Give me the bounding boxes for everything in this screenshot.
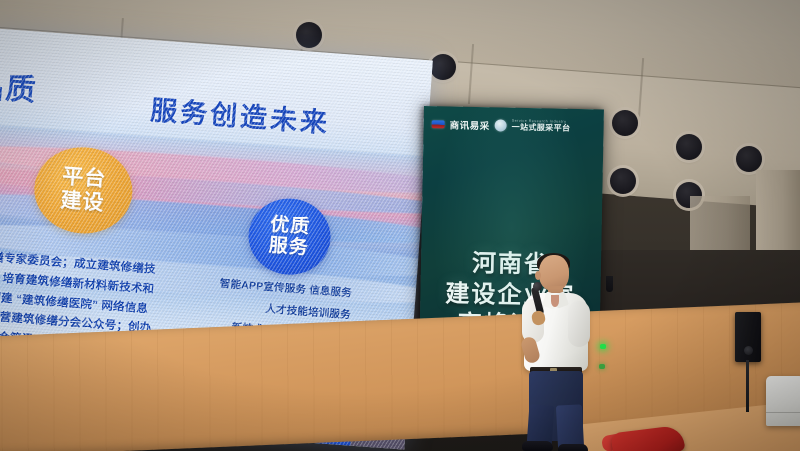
speaker-person <box>510 255 615 451</box>
speaker-shoe-right <box>558 444 588 451</box>
speaker-ear <box>535 271 541 280</box>
banner-logo-secondary-cn: 一站式服采平台 <box>512 123 571 132</box>
banner-logo-secondary-en: Service Research Industry <box>512 120 571 125</box>
banner-logo-primary: 商讯易采 <box>450 117 490 132</box>
air-vent-icon <box>612 110 638 136</box>
air-vent-icon <box>676 134 702 160</box>
screenshot-root: 品质 服务创造未来 平台 建设 优质 服务 建筑修缮专家委员会；成立建筑修缮技 … <box>0 0 800 451</box>
banner-logo-secondary: Service Research Industry 一站式服采平台 <box>512 120 571 133</box>
slide-kicker-text: 品质 <box>0 61 39 110</box>
green-indicator-light <box>599 364 605 369</box>
air-vent-icon <box>430 54 456 80</box>
white-covered-chair <box>766 376 800 426</box>
speaker-leg-right <box>556 404 584 449</box>
green-indicator-light <box>600 344 606 349</box>
globe-icon <box>495 119 507 131</box>
pa-speaker-stand <box>746 360 749 412</box>
badge-line-2: 建设 <box>60 189 106 216</box>
shirt-collar-opening <box>551 295 559 307</box>
speaker-shoe-left <box>522 441 553 451</box>
chair-seam <box>766 412 800 413</box>
air-vent-icon <box>610 168 636 194</box>
badge-line-1: 平台 <box>61 165 107 192</box>
banner-logo-row: 商讯易采 Service Research Industry 一站式服采平台 <box>431 116 596 135</box>
pa-speaker-driver-icon <box>744 346 753 355</box>
badge-line-2: 服务 <box>268 235 309 259</box>
badge-line-1: 优质 <box>270 214 311 238</box>
shirt-sleeve-right <box>568 301 590 347</box>
air-vent-icon <box>296 22 322 48</box>
brand-mark-icon <box>432 120 445 128</box>
air-vent-icon <box>736 146 762 172</box>
